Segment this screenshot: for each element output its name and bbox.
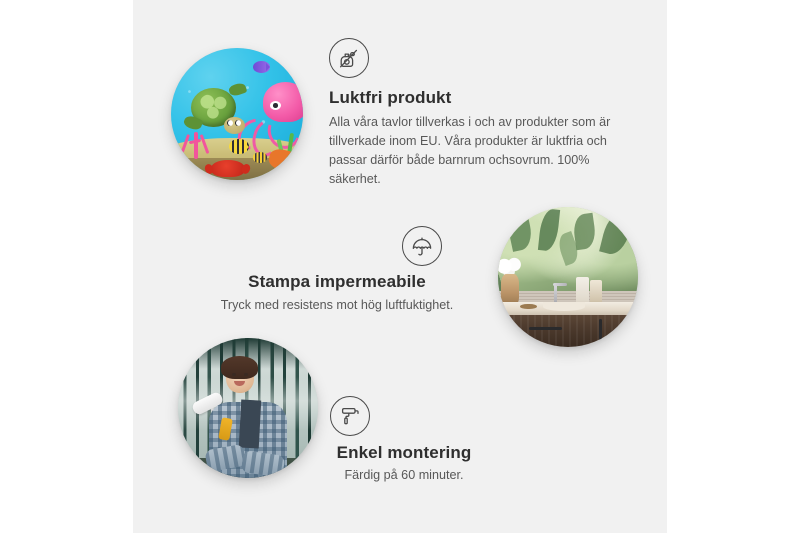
toiletry-bottle [576, 277, 589, 305]
feature-title: Stampa impermeabile [196, 272, 478, 292]
vase [501, 274, 519, 305]
leaf-shape [506, 211, 536, 252]
paint-roller-icon [330, 396, 370, 436]
feature-odourfree: Luktfri produkt Alla våra tavlor tillver… [329, 38, 637, 190]
leaf-shape [538, 208, 561, 252]
feature-description: Alla våra tavlor tillverkas i och av pro… [329, 113, 637, 190]
toiletry-bottle [590, 280, 601, 304]
cabinet-handle [599, 319, 602, 340]
yellow-striped-fish [229, 139, 249, 154]
red-crab [211, 160, 245, 177]
promo-banner: Luktfri produkt Alla våra tavlor tillver… [0, 0, 800, 533]
underwater-kids-mural-circle [171, 48, 303, 180]
feature-waterproof: Stampa impermeabile Tryck med resistens … [196, 226, 478, 315]
faucet [554, 285, 557, 303]
leaf-shape [599, 208, 634, 257]
shirt-opening [238, 399, 260, 448]
feature-assembly: Enkel montering Färdig på 60 minuter. [296, 396, 512, 485]
botanical-wallpaper [498, 207, 638, 299]
woman-hair [221, 356, 257, 378]
drawer-handle [529, 327, 563, 330]
umbrella-icon [402, 226, 442, 266]
vanity-cabinet [506, 315, 638, 347]
octopus-eye [270, 101, 282, 111]
sink-basin [543, 302, 585, 310]
feature-description: Tryck med resistens mot hög luftfuktighe… [196, 296, 478, 315]
yellow-striped-fish [253, 152, 268, 163]
feature-title: Luktfri produkt [329, 88, 637, 108]
wood-grain [506, 315, 638, 347]
pink-coral [179, 125, 213, 159]
turtle-head [224, 117, 245, 134]
feature-title: Enkel montering [296, 443, 512, 463]
bathroom-botanical-wallpaper-circle [498, 207, 638, 347]
feature-description: Färdig på 60 minuter. [296, 466, 512, 485]
no-odour-perfume-bottle-icon [329, 38, 369, 78]
purple-fish [253, 61, 270, 73]
